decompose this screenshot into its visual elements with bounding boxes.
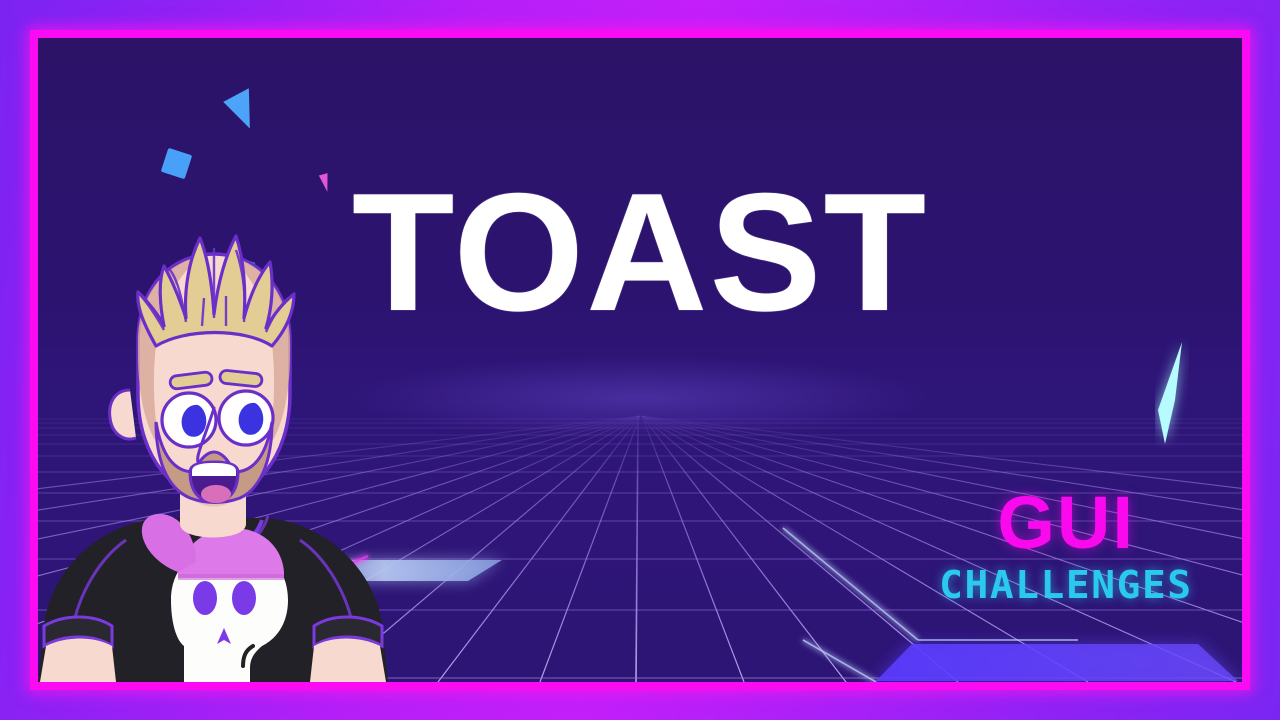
avatar-mouth bbox=[190, 462, 238, 503]
grid-highlight-cell-bottom bbox=[874, 643, 1242, 682]
brand-logo: GUI CHALLENGES bbox=[944, 486, 1188, 604]
brand-logo-secondary: CHALLENGES bbox=[939, 566, 1193, 604]
avatar-head bbox=[110, 236, 294, 503]
thumbnail-stage: TOAST GUI CHALLENGES bbox=[0, 0, 1280, 720]
confetti-cyan-shard-icon bbox=[1155, 338, 1189, 448]
brand-logo-primary: GUI bbox=[944, 486, 1188, 560]
avatar bbox=[38, 222, 388, 682]
